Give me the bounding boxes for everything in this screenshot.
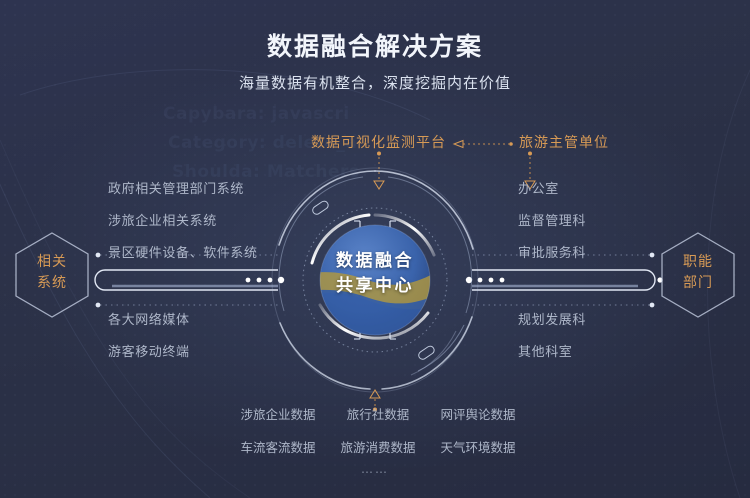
right-item: 办公室 — [518, 178, 586, 197]
right-item: 规划发展科 — [518, 309, 586, 328]
left-item: 游客移动终端 — [108, 341, 190, 360]
bottom-item: 旅行社数据 — [328, 404, 428, 423]
left-column-bottom: 各大网络媒体 游客移动终端 — [108, 309, 190, 373]
hub-rings — [268, 163, 482, 397]
bottom-item: 网评舆论数据 — [428, 404, 528, 423]
bottom-data-grid: 涉旅企业数据 旅行社数据 网评舆论数据 车流客流数据 旅游消费数据 天气环境数据 — [228, 404, 528, 456]
right-column-bottom: 规划发展科 其他科室 — [518, 309, 586, 373]
hexagon-shape — [658, 230, 738, 320]
central-hub[interactable]: 数据融合 共享中心 — [268, 163, 482, 397]
data-sphere — [258, 225, 448, 363]
bottom-item: 天气环境数据 — [428, 437, 528, 456]
right-item: 其他科室 — [518, 341, 586, 360]
right-item: 审批服务科 — [518, 242, 586, 261]
hexagon-functional-departments[interactable]: 职能 部门 — [658, 230, 738, 320]
top-arrow-connector — [453, 139, 515, 149]
hexagon-related-systems[interactable]: 相关 系统 — [12, 230, 92, 320]
left-item: 景区硬件设备、软件系统 — [108, 242, 258, 261]
left-item: 涉旅企业相关系统 — [108, 210, 258, 229]
infographic-canvas: Capybara: javascri Category: delete_a Sh… — [0, 0, 750, 498]
bottom-ellipsis: …… — [0, 462, 750, 476]
left-column-top: 政府相关管理部门系统 涉旅企业相关系统 景区硬件设备、软件系统 — [108, 178, 258, 274]
hexagon-shape — [12, 230, 92, 320]
bottom-item: 涉旅企业数据 — [228, 404, 328, 423]
page-title: 数据融合解决方案 — [0, 27, 750, 63]
left-item: 政府相关管理部门系统 — [108, 178, 258, 197]
left-item: 各大网络媒体 — [108, 309, 190, 328]
bottom-item: 旅游消费数据 — [328, 437, 428, 456]
bottom-item: 车流客流数据 — [228, 437, 328, 456]
right-item: 监督管理科 — [518, 210, 586, 229]
label-tourism-authority[interactable]: 旅游主管单位 — [519, 132, 609, 152]
page-subtitle: 海量数据有机整合，深度挖掘内在价值 — [0, 72, 750, 93]
right-column-top: 办公室 监督管理科 审批服务科 — [518, 178, 586, 274]
label-visualization-platform[interactable]: 数据可视化监测平台 — [311, 132, 446, 152]
